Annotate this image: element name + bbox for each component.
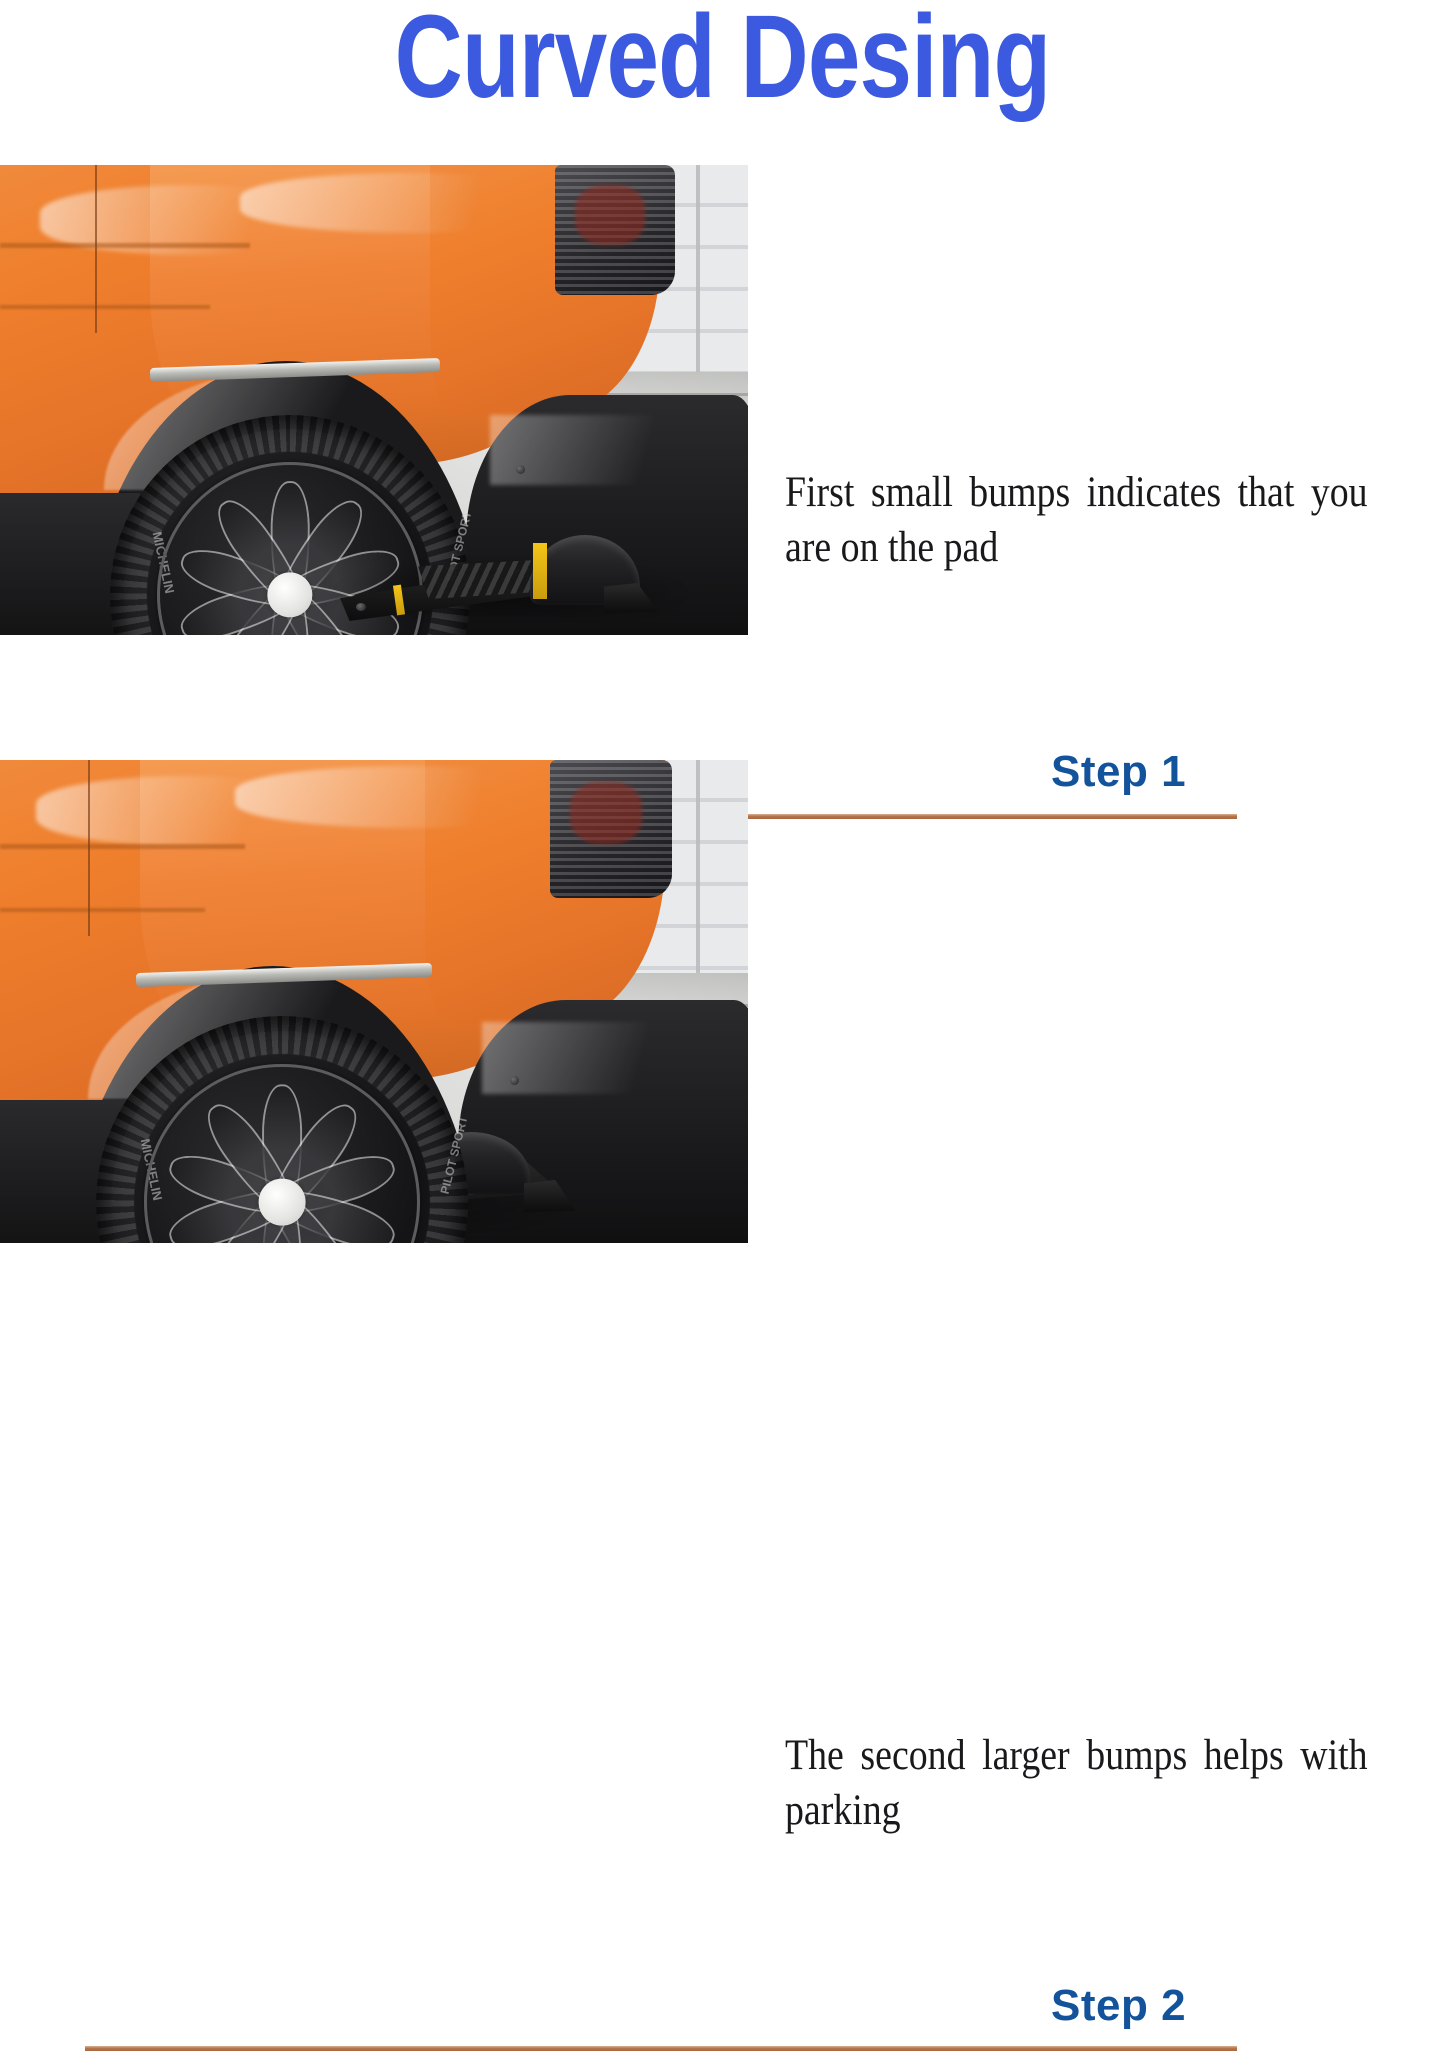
step-1-photo: MICHELIN PILOT SPORT — [0, 165, 748, 635]
parking-sensor — [510, 1076, 519, 1085]
step-2-description: The second larger bumps helps with parki… — [785, 1728, 1368, 1838]
step-2-label: Step 2 — [1051, 1982, 1186, 2030]
step-2-panel: MICHELIN PILOT SPORT The second larger b… — [0, 760, 1445, 1287]
parking-pad-bolt — [356, 603, 366, 611]
step-1-panel: MICHELIN PILOT SPORT Fir — [0, 165, 1445, 651]
fender-highlight — [240, 173, 580, 233]
tail-light-red-glow — [575, 185, 645, 245]
parking-pad-bump-stripe — [533, 543, 547, 599]
body-crease-lower — [0, 908, 205, 912]
body-crease-upper — [0, 844, 245, 849]
step-2-photo: MICHELIN PILOT SPORT — [0, 760, 748, 1243]
page-title: Curved Desing — [145, 0, 1301, 120]
bumper-gloss — [490, 415, 730, 485]
door-shut-line — [95, 165, 97, 333]
body-crease-upper — [0, 243, 250, 248]
body-crease-lower — [0, 305, 210, 309]
bumper-gloss — [482, 1022, 726, 1094]
wheel-center-cap — [259, 1179, 306, 1226]
parking-sensor — [516, 465, 525, 474]
door-shut-line — [88, 760, 90, 936]
tail-light-red-glow — [570, 782, 642, 844]
section-divider-2 — [85, 2046, 1237, 2051]
step-1-description: First small bumps indicates that you are… — [785, 465, 1368, 575]
fender-highlight — [235, 766, 585, 828]
